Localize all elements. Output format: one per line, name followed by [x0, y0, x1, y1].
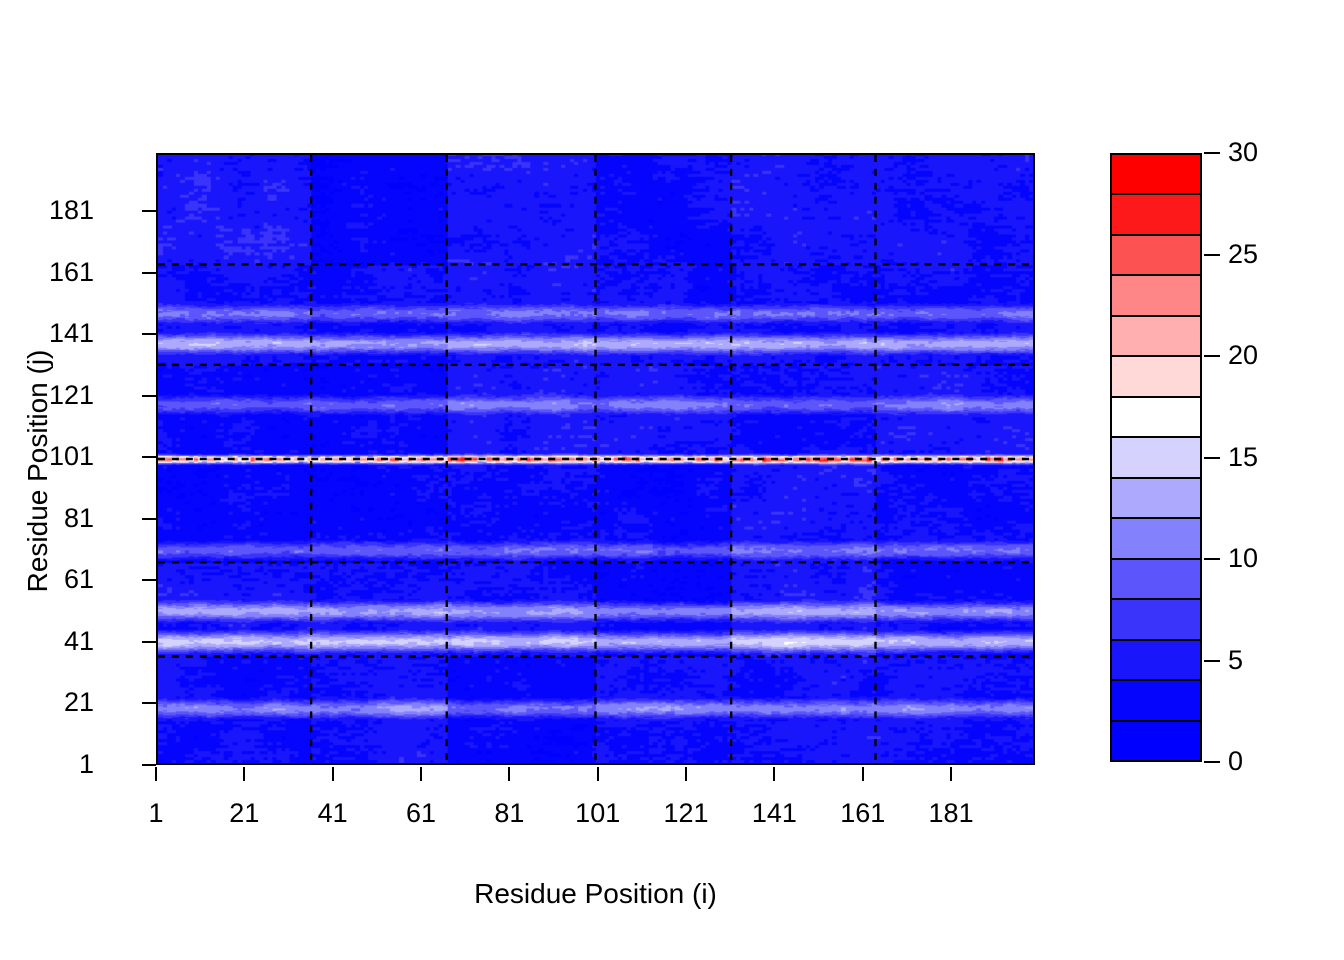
colorbar[interactable]	[1110, 153, 1202, 762]
colorbar-tick-label: 25	[1228, 241, 1258, 268]
y-axis-tick	[142, 395, 156, 397]
x-axis-tick	[508, 767, 510, 781]
y-axis-tick-label: 81	[64, 505, 94, 532]
y-axis-tick-label: 121	[49, 382, 94, 409]
y-axis-tick	[142, 579, 156, 581]
y-axis-tick	[142, 333, 156, 335]
colorbar-band	[1112, 236, 1200, 276]
colorbar-band	[1112, 155, 1200, 195]
colorbar-band	[1112, 195, 1200, 235]
colorbar-band	[1112, 681, 1200, 721]
y-axis-tick	[142, 641, 156, 643]
y-axis-tick-label: 21	[64, 689, 94, 716]
y-axis-tick	[142, 456, 156, 458]
colorbar-band	[1112, 600, 1200, 640]
colorbar-band	[1112, 722, 1200, 760]
colorbar-band	[1112, 519, 1200, 559]
colorbar-band	[1112, 276, 1200, 316]
colorbar-band	[1112, 398, 1200, 438]
y-axis-tick-label: 41	[64, 628, 94, 655]
x-axis-tick	[773, 767, 775, 781]
colorbar-tick	[1204, 660, 1220, 662]
colorbar-tick-label: 15	[1228, 444, 1258, 471]
heatmap-figure: Residue Position (j) Residue Position (i…	[0, 0, 1344, 960]
y-axis-tick	[142, 272, 156, 274]
x-axis-tick	[420, 767, 422, 781]
colorbar-tick	[1204, 254, 1220, 256]
y-axis-tick-label: 181	[49, 197, 94, 224]
y-axis-tick-label: 161	[49, 259, 94, 286]
colorbar-band	[1112, 317, 1200, 357]
colorbar-tick-label: 30	[1228, 139, 1258, 166]
colorbar-tick	[1204, 355, 1220, 357]
heatmap-plot-area[interactable]	[156, 153, 1035, 765]
colorbar-band	[1112, 641, 1200, 681]
colorbar-tick-label: 20	[1228, 342, 1258, 369]
colorbar-band	[1112, 438, 1200, 478]
x-axis-tick-label: 181	[891, 800, 1011, 827]
x-axis-tick	[332, 767, 334, 781]
y-axis-tick-label: 61	[64, 566, 94, 593]
colorbar-tick-label: 10	[1228, 545, 1258, 572]
colorbar-band	[1112, 357, 1200, 397]
colorbar-tick	[1204, 558, 1220, 560]
x-axis-tick	[243, 767, 245, 781]
colorbar-tick	[1204, 457, 1220, 459]
x-axis-tick	[862, 767, 864, 781]
x-axis-tick	[685, 767, 687, 781]
y-axis-tick	[142, 702, 156, 704]
y-axis-title: Residue Position (j)	[22, 321, 54, 621]
y-axis-tick-label: 141	[49, 320, 94, 347]
x-axis-tick	[155, 767, 157, 781]
colorbar-tick-label: 5	[1228, 647, 1243, 674]
y-axis-tick	[142, 764, 156, 766]
y-axis-tick-label: 1	[79, 751, 94, 778]
y-axis-tick	[142, 210, 156, 212]
colorbar-tick	[1204, 152, 1220, 154]
x-axis-title: Residue Position (i)	[156, 878, 1035, 910]
colorbar-tick	[1204, 761, 1220, 763]
heatmap-image	[158, 155, 1033, 763]
x-axis-tick	[597, 767, 599, 781]
x-axis-tick	[950, 767, 952, 781]
colorbar-band	[1112, 479, 1200, 519]
y-axis-tick-label: 101	[49, 443, 94, 470]
colorbar-band	[1112, 560, 1200, 600]
y-axis-tick	[142, 518, 156, 520]
colorbar-tick-label: 0	[1228, 748, 1243, 775]
